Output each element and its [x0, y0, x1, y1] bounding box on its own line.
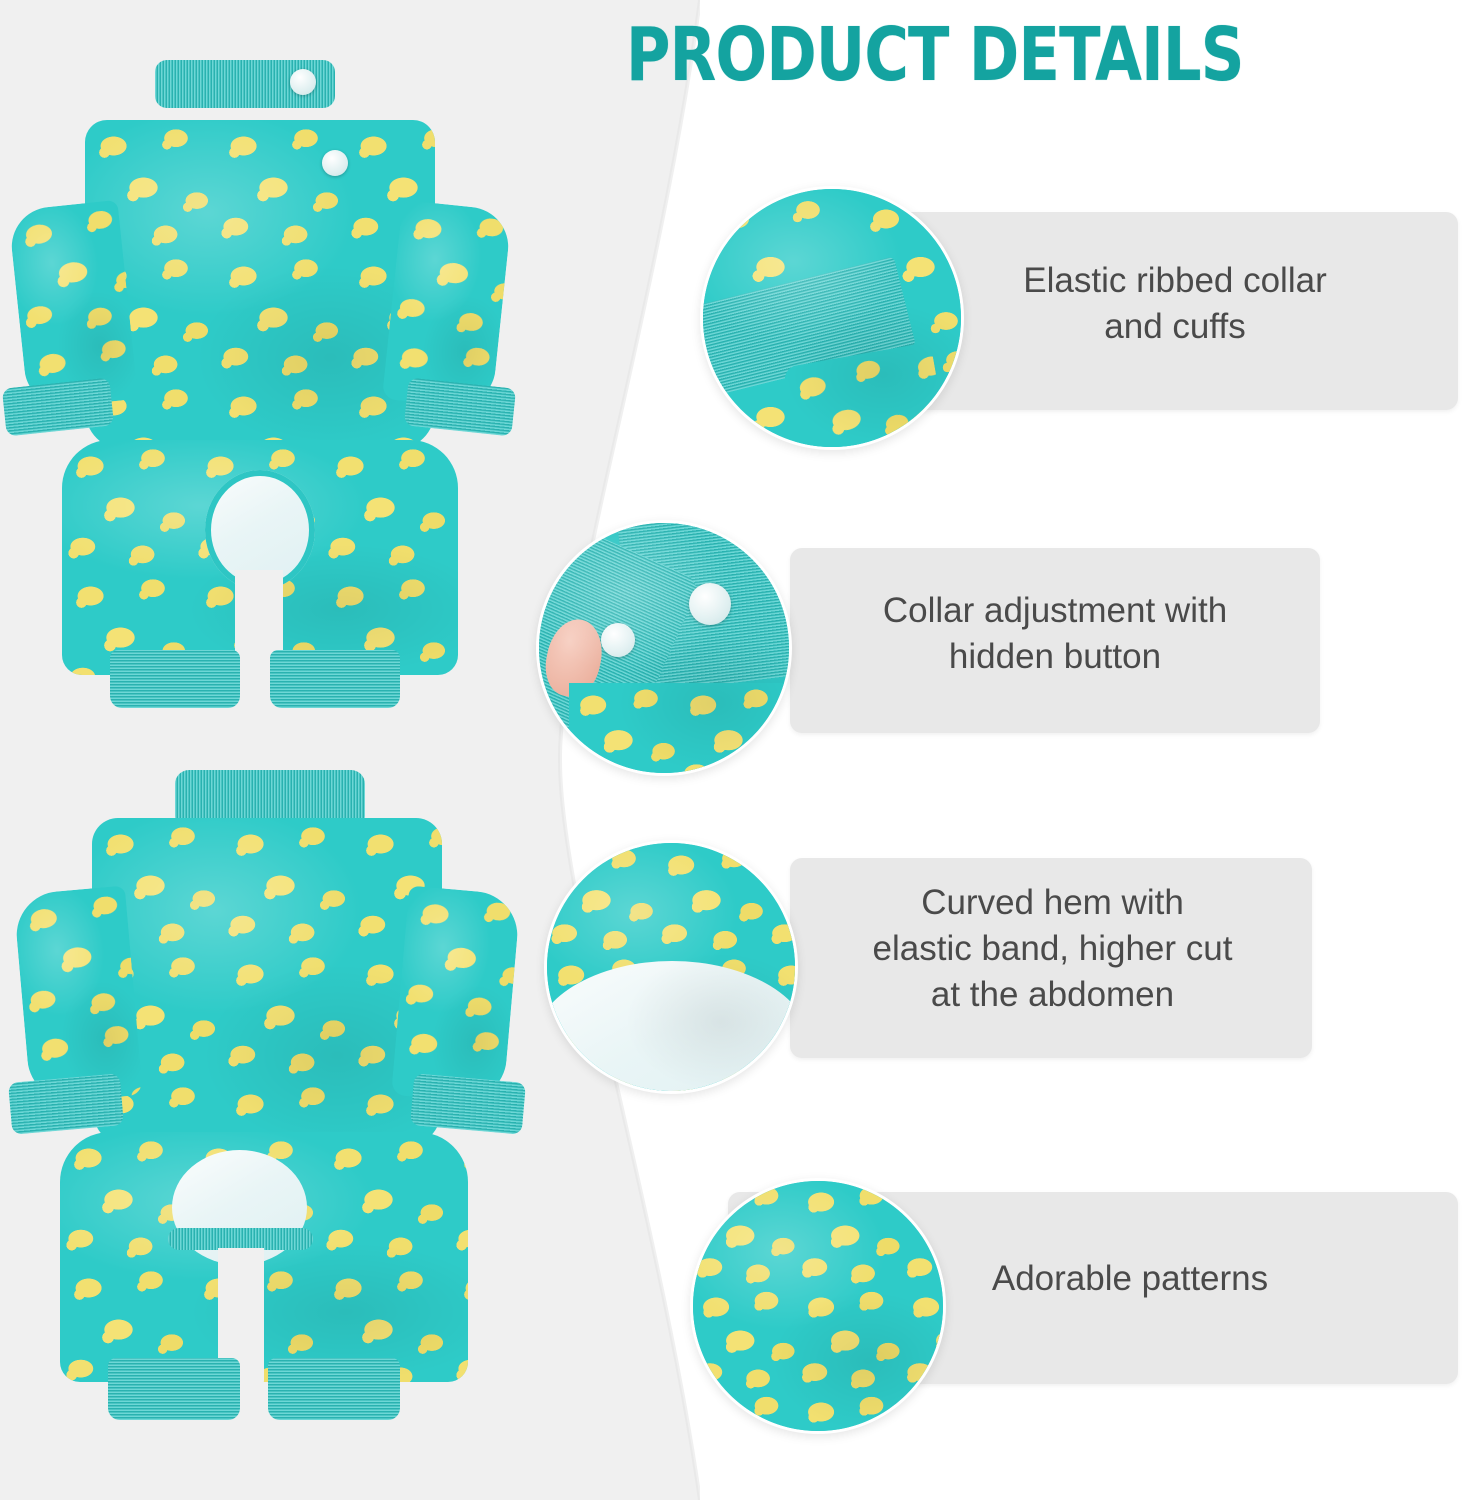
front-cuff-left — [8, 1073, 124, 1135]
detail-photo-2-hidden-button — [536, 520, 792, 776]
front-torso — [92, 818, 442, 1148]
detail-photo-4-duck-pattern — [690, 1178, 946, 1434]
pajama-back-view — [0, 45, 520, 725]
detail-photo-1-ribbed-cuff — [700, 186, 964, 450]
front-leg-cuff-left — [108, 1358, 240, 1420]
hem-elastic-band — [168, 1228, 313, 1250]
sleeve-left — [8, 200, 138, 410]
detail-photo-3-curved-hem — [544, 840, 798, 1094]
front-sleeve-right — [391, 886, 521, 1105]
product-details-infographic: PRODUCT DETAILS — [0, 0, 1478, 1500]
leg-cuff-left — [110, 650, 240, 708]
torso-back — [85, 120, 435, 450]
pajama-front-view — [0, 760, 540, 1460]
front-sleeve-left — [13, 886, 143, 1105]
leg-cuff-right — [270, 650, 400, 708]
front-leg-cuff-right — [268, 1358, 400, 1420]
callout-text-1: Elastic ribbed collar and cuffs — [930, 258, 1420, 350]
front-cuff-right — [410, 1073, 526, 1135]
sleeve-right — [382, 200, 512, 410]
page-title: PRODUCT DETAILS — [626, 18, 1244, 92]
callout-text-4: Adorable patterns — [880, 1256, 1380, 1302]
collar-snap-button-1 — [290, 69, 316, 95]
collar-snap-button-2 — [322, 150, 348, 176]
callout-text-3: Curved hem with elastic band, higher cut… — [800, 880, 1305, 1018]
callout-text-2: Collar adjustment with hidden button — [805, 588, 1305, 680]
